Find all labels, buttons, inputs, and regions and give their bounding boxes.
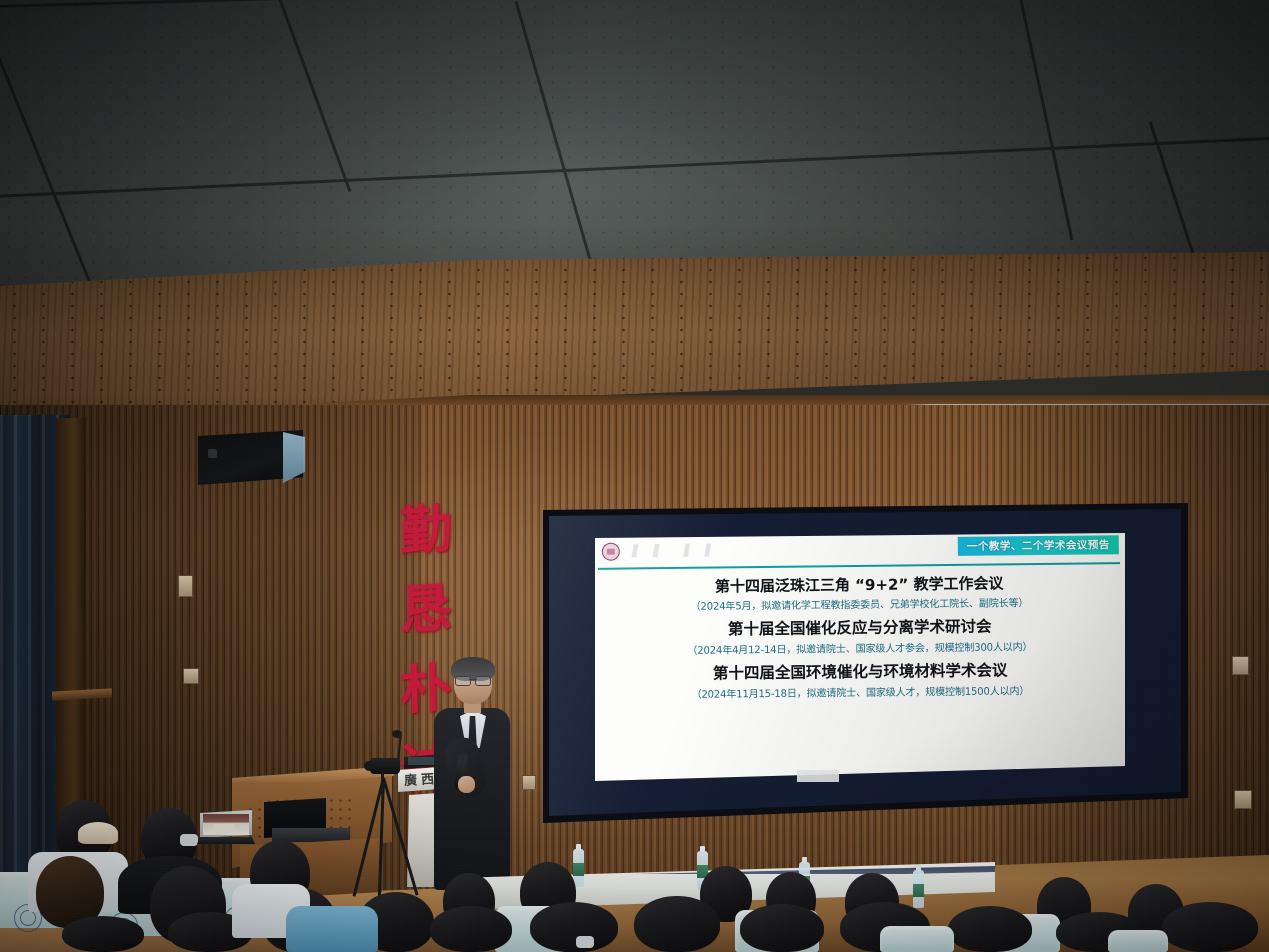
calligraphy-char-2: 恳 — [400, 582, 453, 638]
slide-header: 一个教学、二个学术会议预告 — [595, 533, 1124, 566]
slide-header-badge: 一个教学、二个学术会议预告 — [958, 535, 1119, 556]
bottle-label — [697, 865, 708, 878]
conference-detail: （2024年4月12-14日，拟邀请院士、国家级人才参会，规模控制300人以内） — [597, 637, 1122, 658]
bottle-label — [913, 884, 924, 897]
water-bottle[interactable] — [799, 862, 810, 900]
gooseneck-microphone-icon — [392, 730, 402, 738]
conference-entry: 第十届全国催化反应与分离学术研讨会 （2024年4月12-14日，拟邀请院士、国… — [595, 617, 1125, 658]
slide-body: 第十四届泛珠江三角 “9+2” 教学工作会议 （2024年5月，拟邀请化学工程教… — [595, 568, 1125, 781]
bottle-label — [573, 863, 584, 876]
tripod-leg — [382, 778, 418, 896]
wall-recess — [56, 418, 86, 952]
laptop-screen — [203, 814, 249, 835]
wall-outlet[interactable] — [183, 668, 199, 684]
conference-entry: 第十四届泛珠江三角 “9+2” 教学工作会议 （2024年5月，拟邀请化学工程教… — [595, 574, 1124, 614]
audience-laptop[interactable] — [200, 810, 252, 844]
calligraphy-char-1: 勤 — [400, 503, 453, 559]
water-bottle[interactable] — [697, 851, 708, 889]
laptop-base — [197, 837, 255, 844]
camera-tripod — [350, 758, 414, 900]
eyeglasses-icon — [455, 676, 491, 684]
wall-switch-plate[interactable] — [178, 575, 193, 597]
tripod-camera-head — [370, 758, 400, 774]
water-bottle[interactable] — [573, 849, 584, 887]
university-logo-text — [624, 543, 739, 557]
slide-bottom-marker — [797, 770, 839, 782]
presentation-slide[interactable]: 一个教学、二个学术会议预告 第十四届泛珠江三角 “9+2” 教学工作会议 （20… — [595, 533, 1125, 781]
presenter — [434, 660, 510, 890]
wall-outlet[interactable] — [1232, 656, 1249, 675]
lecture-hall-photo: 勤 恳 朴 诚 一个教学、二个学术会议预告 第十四届泛珠江三角 “9+2” 教学… — [0, 0, 1269, 952]
conference-detail: （2024年11月15-18日，拟邀请院士、国家级人才，规模控制1500人以内） — [598, 681, 1123, 702]
bottle-label — [799, 876, 810, 889]
university-logo-icon — [602, 543, 620, 561]
conference-detail: （2024年5月，拟邀请化学工程教指委委员、兄弟学校化工院长、副院长等） — [597, 593, 1122, 614]
presenter-hand — [458, 776, 475, 793]
wall-outlet[interactable] — [1234, 790, 1252, 809]
control-console[interactable] — [272, 828, 350, 842]
laptop-lid — [200, 810, 252, 838]
speaker-cone — [208, 449, 217, 458]
water-bottle[interactable] — [913, 870, 924, 908]
conference-entry: 第十四届全国环境催化与环境材料学术会议 （2024年11月15-18日，拟邀请院… — [595, 661, 1125, 702]
wall-outlet[interactable] — [522, 775, 536, 790]
